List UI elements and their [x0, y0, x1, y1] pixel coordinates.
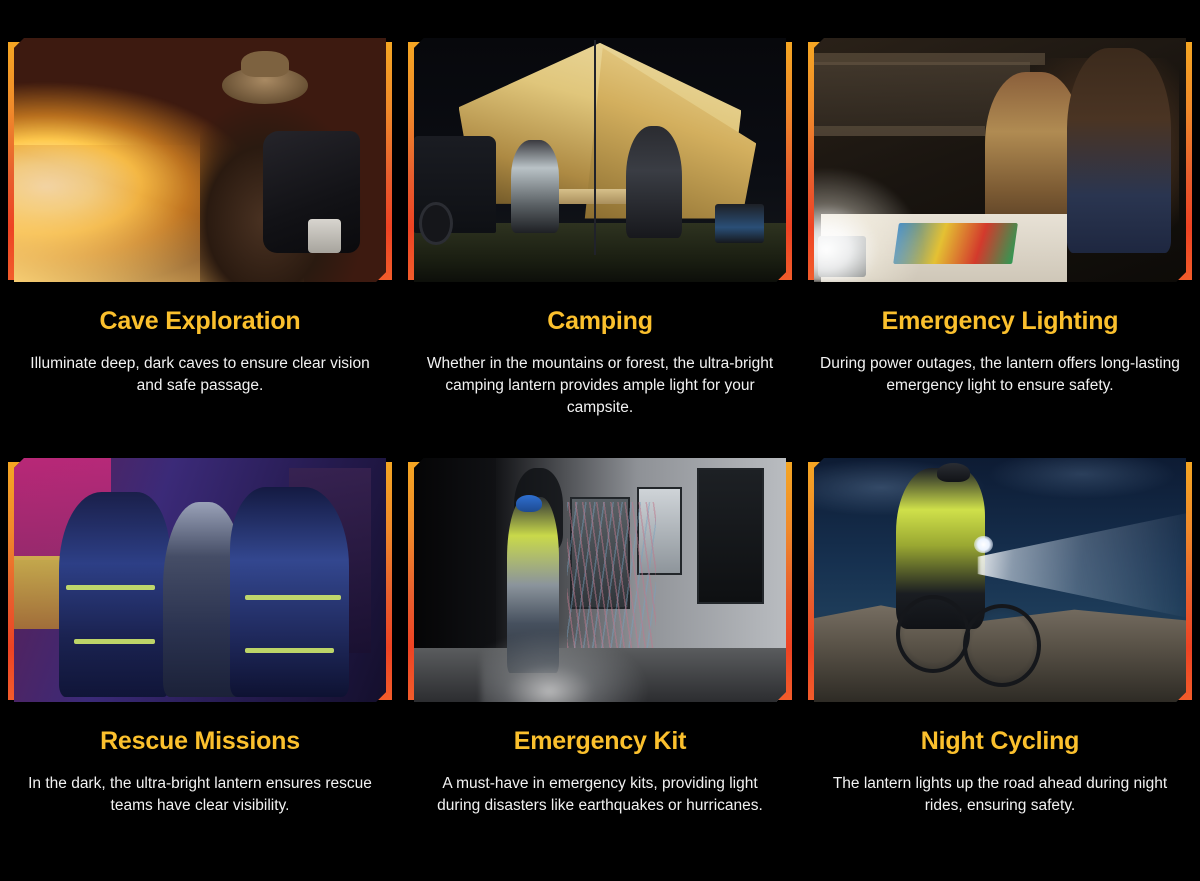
card-title: Night Cycling — [921, 728, 1080, 756]
card-image-emergency-kit — [414, 458, 786, 702]
card-title: Emergency Kit — [514, 728, 686, 756]
card-media — [814, 458, 1186, 702]
card-media — [414, 458, 786, 702]
feature-card-emergency-lighting[interactable]: Emergency Lighting During power outages,… — [800, 38, 1200, 458]
card-image-camping — [414, 38, 786, 282]
feature-card-camping[interactable]: Camping Whether in the mountains or fore… — [400, 38, 800, 458]
card-description: Whether in the mountains or forest, the … — [420, 353, 780, 419]
card-image-night-cycling — [814, 458, 1186, 702]
card-media — [14, 458, 386, 702]
feature-card-cave-exploration[interactable]: Cave Exploration Illuminate deep, dark c… — [0, 38, 400, 458]
feature-card-rescue-missions[interactable]: Rescue Missions In the dark, the ultra-b… — [0, 458, 400, 878]
card-image-rescue-missions — [14, 458, 386, 702]
card-image-cave-exploration — [14, 38, 386, 282]
feature-card-night-cycling[interactable]: Night Cycling The lantern lights up the … — [800, 458, 1200, 878]
card-title: Cave Exploration — [99, 308, 300, 336]
feature-grid: Cave Exploration Illuminate deep, dark c… — [0, 0, 1200, 881]
card-title: Rescue Missions — [100, 728, 300, 756]
card-description: Illuminate deep, dark caves to ensure cl… — [20, 353, 380, 397]
card-media — [814, 38, 1186, 282]
card-title: Camping — [547, 308, 653, 336]
card-description: During power outages, the lantern offers… — [820, 353, 1180, 397]
card-image-emergency-lighting — [814, 38, 1186, 282]
card-media — [414, 38, 786, 282]
card-description: In the dark, the ultra-bright lantern en… — [20, 773, 380, 817]
card-description: The lantern lights up the road ahead dur… — [820, 773, 1180, 817]
feature-card-emergency-kit[interactable]: Emergency Kit A must-have in emergency k… — [400, 458, 800, 878]
card-media — [14, 38, 386, 282]
card-description: A must-have in emergency kits, providing… — [420, 773, 780, 817]
card-title: Emergency Lighting — [882, 308, 1119, 336]
